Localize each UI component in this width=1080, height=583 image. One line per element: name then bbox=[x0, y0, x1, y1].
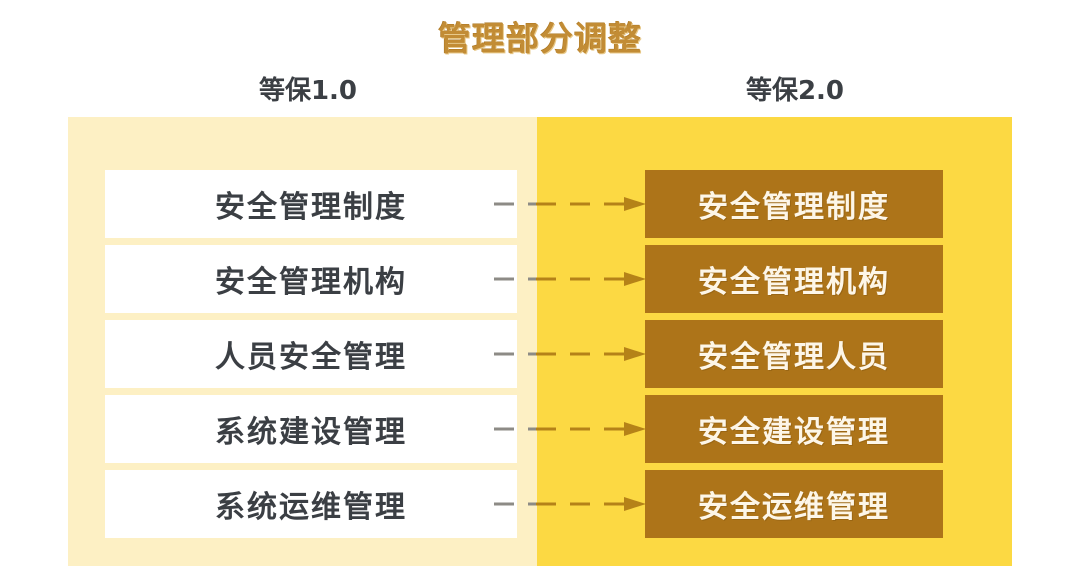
card-left-row-5: 系统运维管理 bbox=[105, 470, 517, 538]
column-header-right: 等保2.0 bbox=[645, 70, 945, 107]
card-left-row-1: 安全管理制度 bbox=[105, 170, 517, 238]
card-right-row-5: 安全运维管理 bbox=[645, 470, 943, 538]
card-right-label: 安全建设管理 bbox=[698, 407, 890, 451]
dashed-arrow-right-icon-row-4 bbox=[494, 422, 646, 436]
card-right-row-1: 安全管理制度 bbox=[645, 170, 943, 238]
card-right-label: 安全管理制度 bbox=[698, 182, 890, 226]
card-right-label: 安全管理机构 bbox=[698, 257, 890, 301]
page-title: 管理部分调整 bbox=[0, 12, 1080, 60]
card-left-row-4: 系统建设管理 bbox=[105, 395, 517, 463]
card-left-row-2: 安全管理机构 bbox=[105, 245, 517, 313]
card-left-label: 人员安全管理 bbox=[215, 332, 407, 376]
card-right-label: 安全运维管理 bbox=[698, 482, 890, 526]
card-left-label: 系统运维管理 bbox=[215, 482, 407, 526]
card-left-label: 安全管理制度 bbox=[215, 182, 407, 226]
card-right-row-2: 安全管理机构 bbox=[645, 245, 943, 313]
dashed-arrow-right-icon-row-2 bbox=[494, 272, 646, 286]
dashed-arrow-right-icon-row-1 bbox=[494, 197, 646, 211]
card-left-label: 系统建设管理 bbox=[215, 407, 407, 451]
card-left-row-3: 人员安全管理 bbox=[105, 320, 517, 388]
card-right-row-4: 安全建设管理 bbox=[645, 395, 943, 463]
dashed-arrow-right-icon-row-5 bbox=[494, 497, 646, 511]
card-left-label: 安全管理机构 bbox=[215, 257, 407, 301]
dashed-arrow-right-icon-row-3 bbox=[494, 347, 646, 361]
card-right-row-3: 安全管理人员 bbox=[645, 320, 943, 388]
column-header-left: 等保1.0 bbox=[158, 70, 458, 107]
card-right-label: 安全管理人员 bbox=[698, 332, 890, 376]
